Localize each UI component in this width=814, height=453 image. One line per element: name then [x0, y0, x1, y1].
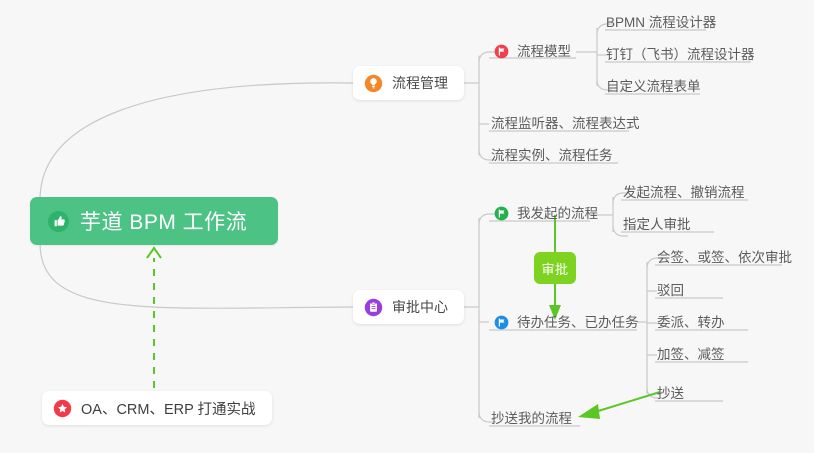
approval-badge-label: 审批	[541, 259, 568, 278]
leaf-label-listener-expression: 流程监听器、流程表达式	[491, 116, 640, 131]
mindmap-canvas: 芋道 BPM 工作流 流程管理 审批中心	[0, 0, 814, 453]
leaf-label-delegate-transfer: 委派、转办	[657, 315, 725, 330]
branch-node-process-management[interactable]: 流程管理	[353, 66, 464, 100]
root-node[interactable]: 芋道 BPM 工作流	[30, 197, 278, 245]
leaf-label-bpmn-designer: BPMN 流程设计器	[606, 15, 716, 30]
thumbs-up-icon	[47, 210, 70, 233]
leaf-cc-to-me-process[interactable]: 抄送我的流程	[491, 412, 572, 426]
leaf-label-todo-done-tasks: 待办任务、已办任务	[517, 316, 639, 330]
bottom-note-node[interactable]: OA、CRM、ERP 打通实战	[42, 391, 272, 425]
leaf-todo-done-tasks[interactable]: 待办任务、已办任务	[494, 315, 639, 330]
root-label: 芋道 BPM 工作流	[80, 206, 247, 236]
clipboard-icon	[364, 298, 383, 317]
leaf-label-dingtalk-feishu-designer: 钉钉（飞书）流程设计器	[606, 47, 755, 62]
leaf-label-add-remove-sign: 加签、减签	[657, 347, 725, 362]
leaf-countersign-orsign-sequential[interactable]: 会签、或签、依次审批	[657, 251, 792, 265]
arrow-cc-head	[578, 404, 600, 419]
leaf-instance-task[interactable]: 流程实例、流程任务	[491, 149, 613, 163]
link-root-to-process-management	[40, 83, 353, 200]
flag-icon	[494, 44, 509, 59]
branch-label-approval-center: 审批中心	[392, 297, 448, 317]
lightbulb-icon	[364, 74, 383, 93]
leaf-label-carbon-copy: 抄送	[657, 386, 684, 401]
flag-icon	[494, 206, 509, 221]
leaf-label-my-started-process: 我发起的流程	[517, 207, 598, 221]
leaf-listener-expression[interactable]: 流程监听器、流程表达式	[491, 117, 640, 131]
leaf-start-cancel-process[interactable]: 发起流程、撤销流程	[623, 186, 745, 200]
leaf-label-assignee-approval: 指定人审批	[623, 217, 691, 232]
leaf-dingtalk-feishu-designer[interactable]: 钉钉（飞书）流程设计器	[606, 48, 755, 62]
branch-label-process-management: 流程管理	[392, 73, 448, 93]
flag-icon	[494, 315, 509, 330]
leaf-label-custom-process-form: 自定义流程表单	[606, 79, 701, 94]
leaf-label-reject: 驳回	[657, 283, 684, 298]
leaf-label-liucheng-moxing: 流程模型	[517, 45, 571, 59]
leaf-label-countersign-orsign-sequential: 会签、或签、依次审批	[657, 250, 792, 265]
branch-node-approval-center[interactable]: 审批中心	[353, 290, 464, 324]
leaf-bpmn-designer[interactable]: BPMN 流程设计器	[606, 16, 716, 30]
leaf-my-started-process[interactable]: 我发起的流程	[494, 206, 598, 221]
arrow-cc-line	[595, 392, 660, 412]
leaf-reject[interactable]: 驳回	[657, 284, 684, 298]
leaf-label-cc-to-me-process: 抄送我的流程	[491, 411, 572, 426]
approval-badge[interactable]: 审批	[534, 252, 576, 284]
bottom-note-label: OA、CRM、ERP 打通实战	[81, 398, 256, 419]
leaf-liucheng-moxing[interactable]: 流程模型	[494, 44, 571, 59]
leaf-add-remove-sign[interactable]: 加签、减签	[657, 348, 725, 362]
star-icon	[53, 399, 72, 418]
link-root-to-approval-center	[40, 243, 353, 308]
arrow-note-head	[147, 248, 161, 258]
leaf-assignee-approval[interactable]: 指定人审批	[623, 218, 691, 232]
leaf-carbon-copy[interactable]: 抄送	[657, 387, 684, 401]
leaf-delegate-transfer[interactable]: 委派、转办	[657, 316, 725, 330]
leaf-label-start-cancel-process: 发起流程、撤销流程	[623, 185, 745, 200]
leaf-label-instance-task: 流程实例、流程任务	[491, 148, 613, 163]
leaf-custom-process-form[interactable]: 自定义流程表单	[606, 80, 701, 94]
